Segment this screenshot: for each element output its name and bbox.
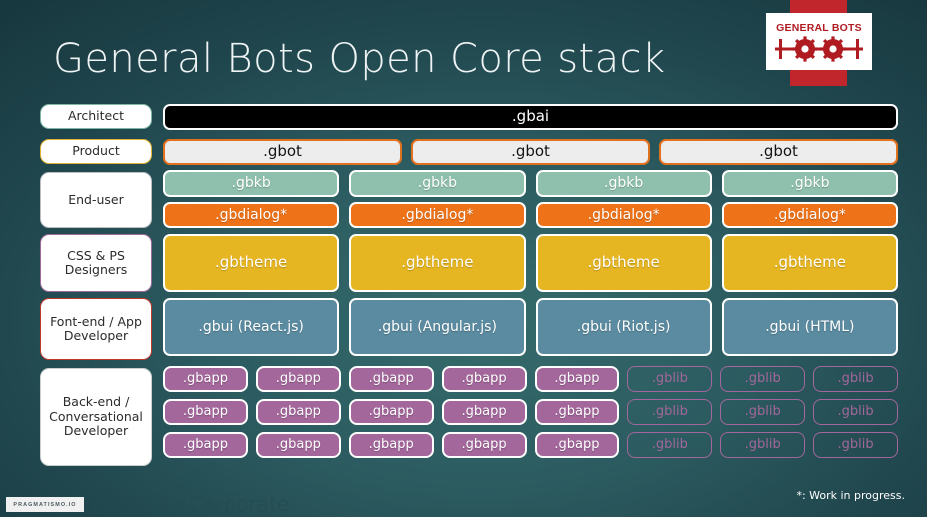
tile-gbot-2-label: .gbot xyxy=(759,143,798,160)
tile-gblib-r0-c0-label: .gblib xyxy=(652,372,688,387)
tile-gbui-1-label: .gbui (Angular.js) xyxy=(378,319,497,335)
tile-gbapp-r1-c0-label: .gbapp xyxy=(183,405,228,420)
tile-gbapp-r1-c4-label: .gbapp xyxy=(554,405,599,420)
tile-gbtheme-3-label: .gbtheme xyxy=(774,254,846,271)
tile-gbui-2-label: .gbui (Riot.js) xyxy=(577,319,671,335)
tile-gbapp-r1-c1[interactable]: .gbapp xyxy=(256,399,341,425)
tile-gbkb-1[interactable]: .gbkb xyxy=(349,170,525,197)
tile-gbapp-r1-c2-label: .gbapp xyxy=(369,405,414,420)
tile-gbdialog-3[interactable]: .gbdialog* xyxy=(722,202,898,228)
tile-gbdialog-1[interactable]: .gbdialog* xyxy=(349,202,525,228)
tile-gblib-r0-c2-label: .gblib xyxy=(838,372,874,387)
role-chip-2[interactable]: End-user xyxy=(40,172,152,228)
role-chip-label: Product xyxy=(72,144,119,158)
tile-gbot-1-label: .gbot xyxy=(511,143,550,160)
role-chip-label: Font-end / App Developer xyxy=(50,315,142,344)
footnote-work-in-progress: *: Work in progress. xyxy=(796,489,905,502)
tile-gbkb-3-label: .gbkb xyxy=(790,175,829,191)
tile-gbdialog-0[interactable]: .gbdialog* xyxy=(163,202,339,228)
pragmatismo-logo: PRAGMATISMO.IO xyxy=(6,497,84,512)
tile-gbapp-r0-c3[interactable]: .gbapp xyxy=(442,366,527,392)
tile-gbtheme-3[interactable]: .gbtheme xyxy=(722,234,898,292)
page-title: General Bots Open Core stack xyxy=(53,36,666,82)
tile-gblib-r2-c1-label: .gblib xyxy=(745,438,781,453)
tile-gbapp-r0-c0[interactable]: .gbapp xyxy=(163,366,248,392)
tile-gbapp-r1-c1-label: .gbapp xyxy=(276,405,321,420)
tile-gblib-r1-c0-label: .gblib xyxy=(652,405,688,420)
tile-gblib-r1-c0[interactable]: .gblib xyxy=(627,399,712,425)
tile-gbapp-r0-c2[interactable]: .gbapp xyxy=(349,366,434,392)
tile-gbtheme-2[interactable]: .gbtheme xyxy=(536,234,712,292)
tile-gbtheme-0[interactable]: .gbtheme xyxy=(163,234,339,292)
tile-gbui-3-label: .gbui (HTML) xyxy=(765,319,854,335)
tile-gbtheme-0-label: .gbtheme xyxy=(215,254,287,271)
tile-gbapp-r1-c0[interactable]: .gbapp xyxy=(163,399,248,425)
tile-gbapp-r2-c1[interactable]: .gbapp xyxy=(256,432,341,458)
tile-gblib-r2-c0[interactable]: .gblib xyxy=(627,432,712,458)
tile-gblib-r1-c1-label: .gblib xyxy=(745,405,781,420)
tile-gbtheme-2-label: .gbtheme xyxy=(587,254,659,271)
tile-gbui-0-label: .gbui (React.js) xyxy=(198,319,303,335)
tile-gblib-r2-c2[interactable]: .gblib xyxy=(813,432,898,458)
tile-gbapp-r2-c4-label: .gbapp xyxy=(554,438,599,453)
tile-gbapp-r0-c1[interactable]: .gbapp xyxy=(256,366,341,392)
tile-gblib-r2-c1[interactable]: .gblib xyxy=(720,432,805,458)
tile-gbapp-r0-c3-label: .gbapp xyxy=(462,372,507,387)
tile-gbai-label: .gbai xyxy=(512,108,549,125)
tile-gbot-1[interactable]: .gbot xyxy=(411,139,650,165)
role-chip-label: CSS & PS Designers xyxy=(65,249,128,278)
tile-gbtheme-1-label: .gbtheme xyxy=(401,254,473,271)
tile-gbdialog-2-label: .gbdialog* xyxy=(588,207,660,223)
tile-gbkb-0[interactable]: .gbkb xyxy=(163,170,339,197)
role-chip-label: End-user xyxy=(68,193,124,207)
tile-gbai[interactable]: .gbai xyxy=(163,104,898,130)
tile-gbkb-2-label: .gbkb xyxy=(604,175,643,191)
tile-gbui-1[interactable]: .gbui (Angular.js) xyxy=(349,298,525,356)
role-chip-4[interactable]: Font-end / App Developer xyxy=(40,298,152,360)
tile-gbapp-r2-c3[interactable]: .gbapp xyxy=(442,432,527,458)
tile-gbkb-0-label: .gbkb xyxy=(232,175,271,191)
tile-gbui-2[interactable]: .gbui (Riot.js) xyxy=(536,298,712,356)
tile-gbdialog-1-label: .gbdialog* xyxy=(401,207,473,223)
footer-caption: 2018Q4 - Corporate xyxy=(90,492,289,516)
tile-gbdialog-0-label: .gbdialog* xyxy=(215,207,287,223)
tile-gbapp-r2-c1-label: .gbapp xyxy=(276,438,321,453)
tile-gbdialog-3-label: .gbdialog* xyxy=(774,207,846,223)
tile-gbapp-r2-c2[interactable]: .gbapp xyxy=(349,432,434,458)
tile-gblib-r1-c2[interactable]: .gblib xyxy=(813,399,898,425)
tile-gbapp-r2-c4[interactable]: .gbapp xyxy=(535,432,620,458)
tile-gblib-r0-c1-label: .gblib xyxy=(745,372,781,387)
general-bots-logo: GENERAL BOTS xyxy=(766,13,872,70)
tile-gbdialog-2[interactable]: .gbdialog* xyxy=(536,202,712,228)
tile-gblib-r2-c0-label: .gblib xyxy=(652,438,688,453)
tile-gbkb-2[interactable]: .gbkb xyxy=(536,170,712,197)
logo-wordmark: GENERAL BOTS xyxy=(776,22,862,34)
tile-gbapp-r0-c0-label: .gbapp xyxy=(183,372,228,387)
role-chip-5[interactable]: Back-end / Conversational Developer xyxy=(40,368,152,466)
pragmatismo-wordmark: PRAGMATISMO.IO xyxy=(13,502,76,508)
tile-gblib-r0-c1[interactable]: .gblib xyxy=(720,366,805,392)
tile-gbapp-r1-c3[interactable]: .gbapp xyxy=(442,399,527,425)
tile-gbapp-r0-c4-label: .gbapp xyxy=(554,372,599,387)
tile-gbot-2[interactable]: .gbot xyxy=(659,139,898,165)
role-chip-label: Architect xyxy=(68,109,124,123)
tile-gblib-r0-c0[interactable]: .gblib xyxy=(627,366,712,392)
tile-gbot-0[interactable]: .gbot xyxy=(163,139,402,165)
tile-gbui-3[interactable]: .gbui (HTML) xyxy=(722,298,898,356)
tile-gblib-r1-c2-label: .gblib xyxy=(838,405,874,420)
role-chip-label: Back-end / Conversational Developer xyxy=(49,395,143,438)
tile-gbkb-3[interactable]: .gbkb xyxy=(722,170,898,197)
tile-gblib-r0-c2[interactable]: .gblib xyxy=(813,366,898,392)
tile-gbapp-r1-c2[interactable]: .gbapp xyxy=(349,399,434,425)
tile-gbapp-r2-c2-label: .gbapp xyxy=(369,438,414,453)
tile-gbapp-r0-c1-label: .gbapp xyxy=(276,372,321,387)
tile-gblib-r2-c2-label: .gblib xyxy=(838,438,874,453)
tile-gbapp-r1-c3-label: .gbapp xyxy=(462,405,507,420)
tile-gbapp-r0-c4[interactable]: .gbapp xyxy=(535,366,620,392)
two-gears-between-bars-icon xyxy=(775,36,863,62)
tile-gbapp-r2-c0-label: .gbapp xyxy=(183,438,228,453)
tile-gbot-0-label: .gbot xyxy=(263,143,302,160)
tile-gblib-r1-c1[interactable]: .gblib xyxy=(720,399,805,425)
tile-gbapp-r1-c4[interactable]: .gbapp xyxy=(535,399,620,425)
tile-gbapp-r2-c0[interactable]: .gbapp xyxy=(163,432,248,458)
role-chip-1[interactable]: Product xyxy=(40,139,152,164)
tile-gbkb-1-label: .gbkb xyxy=(418,175,457,191)
role-chip-3[interactable]: CSS & PS Designers xyxy=(40,234,152,292)
tile-gbtheme-1[interactable]: .gbtheme xyxy=(349,234,525,292)
tile-gbui-0[interactable]: .gbui (React.js) xyxy=(163,298,339,356)
role-chip-0[interactable]: Architect xyxy=(40,104,152,129)
slide-canvas: GENERAL BOTS xyxy=(0,0,927,517)
tile-gbapp-r2-c3-label: .gbapp xyxy=(462,438,507,453)
tile-gbapp-r0-c2-label: .gbapp xyxy=(369,372,414,387)
